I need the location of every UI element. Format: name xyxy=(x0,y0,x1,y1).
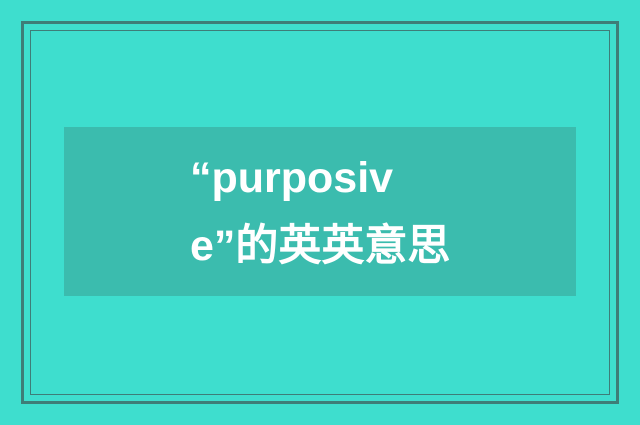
title-card: “purposive”的英英意思 xyxy=(0,0,640,425)
headline-panel: “purposive”的英英意思 xyxy=(64,127,576,296)
page-title: “purposive”的英英意思 xyxy=(180,144,460,280)
